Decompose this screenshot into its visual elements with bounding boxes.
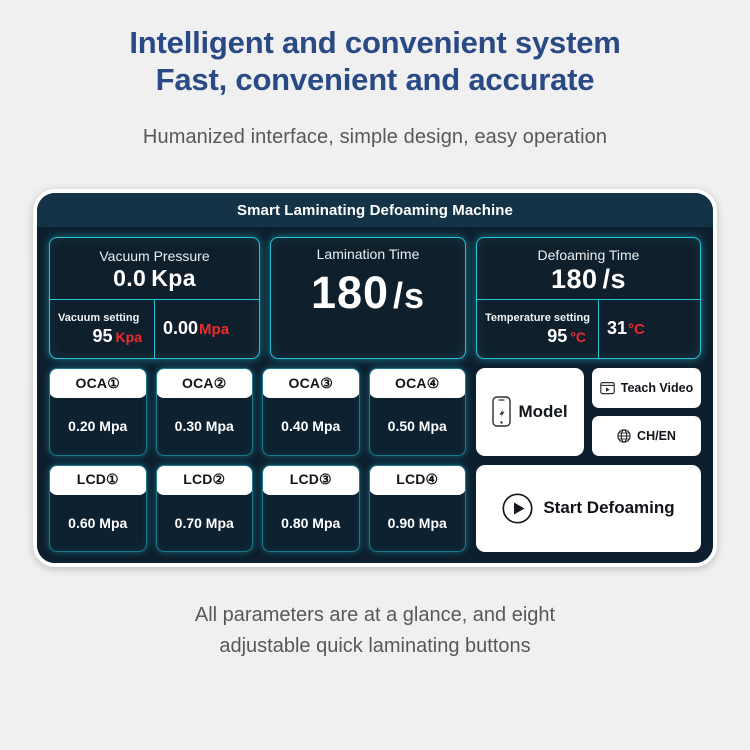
start-defoaming-button[interactable]: Start Defoaming	[476, 465, 701, 553]
preset-oca-3-button[interactable]: OCA③	[262, 368, 360, 398]
vacuum-pressure-unit: Kpa	[151, 265, 196, 291]
temperature-setting-value-group: 95°C	[485, 325, 590, 348]
page-caption: All parameters are at a glance, and eigh…	[195, 600, 555, 662]
preset-row-oca: OCA① 0.20 Mpa OCA② 0.30 Mpa OCA③ 0.40 Mp…	[49, 368, 466, 456]
defoaming-time-label: Defoaming Time	[538, 246, 640, 264]
caption-line-2: adjustable quick laminating buttons	[195, 631, 555, 662]
preset-oca-2[interactable]: OCA② 0.30 Mpa	[156, 368, 254, 456]
preset-oca-4-value: 0.50 Mpa	[370, 398, 466, 455]
lamination-time-label: Lamination Time	[317, 245, 420, 263]
defoaming-sub-row: Temperature setting 95°C 31°C	[477, 300, 700, 358]
defoaming-time-unit: /s	[603, 264, 627, 294]
preset-oca-4-button[interactable]: OCA④	[369, 368, 467, 398]
vacuum-mpa-unit: Mpa	[199, 321, 229, 338]
vacuum-pressure-readout: Vacuum Pressure 0.0Kpa	[50, 238, 259, 300]
gauges-row: Vacuum Pressure 0.0Kpa Vacuum setting 95…	[49, 237, 701, 359]
teach-video-label: Teach Video	[621, 381, 693, 395]
device-screen: Vacuum Pressure 0.0Kpa Vacuum setting 95…	[37, 227, 713, 563]
caption-line-1: All parameters are at a glance, and eigh…	[195, 604, 555, 626]
model-button[interactable]: Model	[476, 368, 584, 456]
vacuum-sub-row: Vacuum setting 95Kpa 0.00Mpa	[50, 300, 259, 358]
vacuum-setting-value-group: 95Kpa	[58, 325, 146, 348]
preset-oca-1[interactable]: OCA① 0.20 Mpa	[49, 368, 147, 456]
preset-lcd-1[interactable]: LCD① 0.60 Mpa	[49, 465, 147, 553]
preset-lcd-2-value: 0.70 Mpa	[157, 495, 253, 552]
play-circle-icon	[502, 493, 533, 524]
preset-lcd-2[interactable]: LCD② 0.70 Mpa	[156, 465, 254, 553]
start-defoaming-label: Start Defoaming	[543, 498, 674, 518]
page-title: Intelligent and convenient system Fast, …	[129, 24, 620, 98]
preset-oca-3-value: 0.40 Mpa	[263, 398, 359, 455]
temperature-setting-label: Temperature setting	[485, 311, 590, 325]
temperature-setting-unit: °C	[570, 329, 586, 345]
preset-grid: OCA① 0.20 Mpa OCA② 0.30 Mpa OCA③ 0.40 Mp…	[49, 368, 466, 552]
preset-oca-1-button[interactable]: OCA①	[49, 368, 147, 398]
defoaming-time-value-group: 180/s	[551, 264, 626, 294]
presets-section: OCA① 0.20 Mpa OCA② 0.30 Mpa OCA③ 0.40 Mp…	[49, 368, 701, 552]
vacuum-pressure-value: 0.0	[113, 265, 146, 291]
vacuum-mpa-cell[interactable]: 0.00Mpa	[154, 300, 259, 358]
defoaming-time-readout: Defoaming Time 180/s	[477, 238, 700, 300]
preset-lcd-3[interactable]: LCD③ 0.80 Mpa	[262, 465, 360, 553]
preset-lcd-3-value: 0.80 Mpa	[263, 495, 359, 552]
vacuum-setting-label: Vacuum setting	[58, 311, 146, 325]
temperature-setting-cell[interactable]: Temperature setting 95°C	[477, 300, 598, 358]
vacuum-pressure-panel[interactable]: Vacuum Pressure 0.0Kpa Vacuum setting 95…	[49, 237, 260, 359]
preset-lcd-4[interactable]: LCD④ 0.90 Mpa	[369, 465, 467, 553]
preset-oca-1-value: 0.20 Mpa	[50, 398, 146, 455]
vacuum-setting-unit: Kpa	[116, 329, 142, 345]
current-temperature-value: 31	[607, 318, 627, 338]
vacuum-pressure-label: Vacuum Pressure	[99, 247, 209, 265]
side-buttons: Teach Video	[592, 368, 701, 456]
lamination-time-value-group: 180/s	[311, 265, 425, 324]
lamination-time-value: 180	[311, 267, 389, 318]
headline-line-1: Intelligent and convenient system	[129, 25, 620, 60]
promo-page: Intelligent and convenient system Fast, …	[0, 0, 750, 750]
vacuum-setting-cell[interactable]: Vacuum setting 95Kpa	[50, 300, 154, 358]
lamination-time-unit: /s	[393, 275, 425, 316]
machine-control-panel: Smart Laminating Defoaming Machine Vacuu…	[33, 189, 717, 567]
actions-top-row: Model T	[476, 368, 701, 456]
preset-lcd-2-button[interactable]: LCD②	[156, 465, 254, 495]
preset-oca-2-button[interactable]: OCA②	[156, 368, 254, 398]
preset-lcd-1-button[interactable]: LCD①	[49, 465, 147, 495]
preset-lcd-3-button[interactable]: LCD③	[262, 465, 360, 495]
current-temperature-unit: °C	[628, 321, 645, 338]
globe-icon	[617, 429, 631, 443]
preset-oca-2-value: 0.30 Mpa	[157, 398, 253, 455]
teach-video-button[interactable]: Teach Video	[592, 368, 701, 408]
page-subtitle: Humanized interface, simple design, easy…	[143, 126, 607, 149]
model-button-label: Model	[518, 402, 567, 422]
lamination-time-panel[interactable]: Lamination Time 180/s	[270, 237, 466, 359]
defoaming-time-value: 180	[551, 264, 598, 294]
language-toggle-label: CH/EN	[637, 429, 676, 443]
headline-line-2: Fast, convenient and accurate	[129, 61, 620, 98]
language-toggle-button[interactable]: CH/EN	[592, 416, 701, 456]
preset-lcd-4-button[interactable]: LCD④	[369, 465, 467, 495]
vacuum-pressure-value-group: 0.0Kpa	[113, 265, 196, 292]
device-title: Smart Laminating Defoaming Machine	[237, 202, 513, 219]
preset-oca-4[interactable]: OCA④ 0.50 Mpa	[369, 368, 467, 456]
vacuum-mpa-value: 0.00	[163, 318, 198, 338]
current-temperature-cell[interactable]: 31°C	[598, 300, 700, 358]
preset-lcd-1-value: 0.60 Mpa	[50, 495, 146, 552]
video-player-icon	[600, 381, 615, 395]
device-title-bar: Smart Laminating Defoaming Machine	[37, 193, 713, 227]
preset-row-lcd: LCD① 0.60 Mpa LCD② 0.70 Mpa LCD③ 0.80 Mp…	[49, 465, 466, 553]
current-temperature-value-group: 31°C	[607, 317, 645, 341]
actions-column: Model T	[476, 368, 701, 552]
mobile-phone-icon	[492, 396, 511, 427]
defoaming-time-panel[interactable]: Defoaming Time 180/s Temperature setting…	[476, 237, 701, 359]
preset-oca-3[interactable]: OCA③ 0.40 Mpa	[262, 368, 360, 456]
preset-lcd-4-value: 0.90 Mpa	[370, 495, 466, 552]
vacuum-mpa-value-group: 0.00Mpa	[163, 317, 229, 341]
temperature-setting-value: 95	[547, 326, 567, 346]
vacuum-setting-value: 95	[93, 326, 113, 346]
